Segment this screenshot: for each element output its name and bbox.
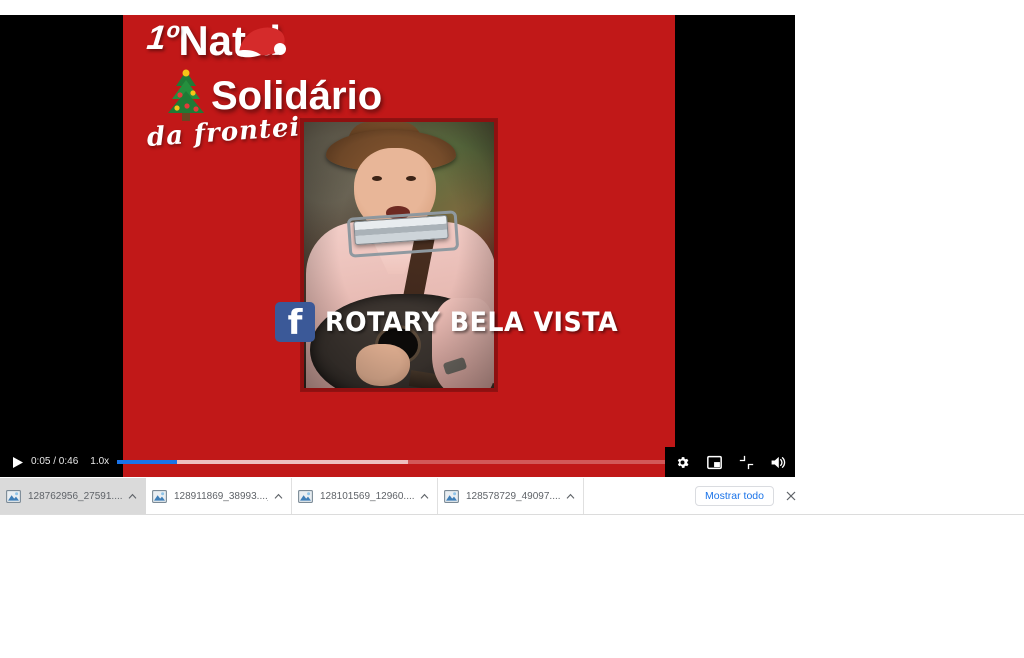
play-pause-button[interactable]: [6, 450, 28, 474]
image-file-icon: [298, 490, 313, 503]
settings-button[interactable]: [673, 453, 691, 471]
picture-in-picture-icon: [707, 455, 722, 470]
facebook-badge: f ROTARY BELA VISTA: [275, 302, 637, 342]
download-item-1[interactable]: 128762956_27591....jpg: [0, 478, 146, 514]
chevron-up-icon: [420, 493, 429, 500]
facebook-icon-letter: f: [275, 303, 315, 343]
download-item-3[interactable]: 128101569_12960....jpg: [292, 478, 438, 514]
download-filename: 128911869_38993....jpg: [174, 491, 268, 502]
player-control-bar: 0:05 / 0:46 1.0x: [0, 447, 795, 477]
seek-progress: [117, 460, 177, 464]
close-shelf-button[interactable]: [784, 489, 798, 503]
page-root: 1º Natal: [0, 0, 1024, 658]
time-display: 0:05 / 0:46: [31, 457, 78, 467]
download-item-2[interactable]: 128911869_38993....jpg: [146, 478, 292, 514]
chevron-up-icon: [128, 493, 137, 500]
picture-in-picture-button[interactable]: [705, 453, 723, 471]
exit-fullscreen-button[interactable]: [737, 453, 755, 471]
christmas-tree-icon: [163, 69, 209, 123]
video-photo-frame: [301, 119, 497, 391]
facebook-page-name: ROTARY BELA VISTA: [325, 309, 618, 336]
seek-bar[interactable]: [117, 447, 665, 477]
title-solidario: Solidário: [211, 76, 382, 116]
volume-on-icon: [770, 455, 786, 470]
photo-left-hand: [356, 344, 410, 386]
title-natal: Natal: [178, 21, 281, 61]
play-icon: [11, 456, 24, 469]
image-file-icon: [6, 490, 21, 503]
download-item-4[interactable]: 128578729_49097....jpg: [438, 478, 584, 514]
close-icon: [786, 491, 796, 501]
download-filename: 128578729_49097....jpg: [466, 491, 560, 502]
show-all-downloads-button[interactable]: Mostrar todo: [695, 486, 774, 507]
video-stage[interactable]: 1º Natal: [123, 15, 675, 477]
title-ordinal: 1º: [145, 21, 178, 55]
chevron-up-icon: [274, 493, 283, 500]
photo-eye-right: [406, 176, 416, 181]
title-line-one: 1º Natal: [147, 21, 281, 61]
download-menu-button[interactable]: [272, 490, 285, 503]
download-menu-button[interactable]: [564, 490, 577, 503]
download-menu-button[interactable]: [126, 490, 139, 503]
facebook-icon: f: [275, 302, 315, 342]
photo-eye-left: [372, 176, 382, 181]
download-shelf: 128762956_27591....jpg 128911869_38993..…: [0, 478, 1024, 515]
download-menu-button[interactable]: [418, 490, 431, 503]
gear-icon: [675, 455, 690, 470]
image-file-icon: [444, 490, 459, 503]
exit-fullscreen-icon: [739, 455, 754, 470]
shelf-actions: Mostrar todo: [695, 478, 1024, 514]
download-filename: 128101569_12960....jpg: [320, 491, 414, 502]
playback-speed-label[interactable]: 1.0x: [90, 457, 109, 467]
download-filename: 128762956_27591....jpg: [28, 491, 122, 502]
volume-button[interactable]: [769, 453, 787, 471]
shelf-spacer: [584, 478, 695, 514]
player-controls-right: [665, 447, 795, 477]
chevron-up-icon: [566, 493, 575, 500]
player-controls-left: 0:05 / 0:46 1.0x: [0, 447, 117, 477]
seek-track[interactable]: [117, 460, 665, 464]
video-player[interactable]: 1º Natal: [0, 15, 795, 477]
image-file-icon: [152, 490, 167, 503]
video-photo: [304, 122, 494, 388]
